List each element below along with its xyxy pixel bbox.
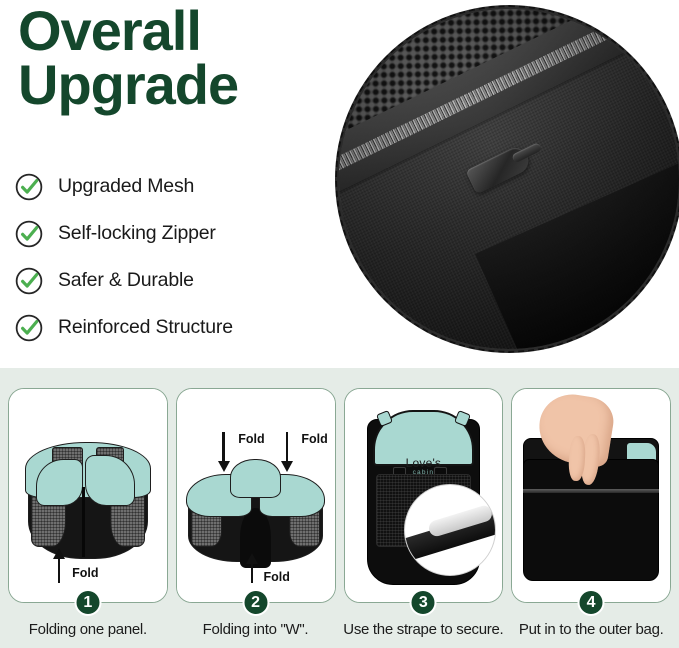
- step-badge-1: 1: [74, 589, 101, 616]
- page-title: Overall Upgrade: [18, 4, 348, 112]
- upgrade-hero-section: Overall Upgrade Upgraded Mesh Self-locki…: [0, 0, 679, 368]
- fold-label: Fold: [301, 432, 327, 446]
- fold-arrow-head-down-right: [281, 461, 293, 472]
- fold-arrow-shaft-up: [58, 555, 61, 583]
- outer-bag-zipper: [523, 489, 659, 493]
- check-circle-icon: [14, 172, 44, 202]
- step-caption-3: Use the strape to secure.: [343, 621, 503, 638]
- fold-label: Fold: [264, 570, 290, 584]
- feature-label: Upgraded Mesh: [58, 175, 194, 198]
- feature-item-self-locking-zipper: Self-locking Zipper: [14, 210, 334, 257]
- step-1-photo: Fold: [9, 389, 167, 602]
- step-badge-2: 2: [242, 589, 269, 616]
- photo-inner: [339, 9, 679, 349]
- pen-peak-center: [230, 459, 280, 497]
- fold-arrow-head-up: [53, 548, 65, 559]
- feature-label: Safer & Durable: [58, 269, 194, 292]
- step-caption-2: Folding into "W".: [176, 621, 336, 638]
- fold-arrow-shaft-down-left: [222, 432, 225, 464]
- feature-list: Upgraded Mesh Self-locking Zipper Safer …: [14, 163, 334, 351]
- title-line-1: Overall: [18, 4, 348, 58]
- step-4-photo: 5: [512, 389, 670, 602]
- check-circle-icon: [14, 219, 44, 249]
- step-card-2: Fold Fold Fold 2: [176, 388, 336, 603]
- step-caption-1: Folding one panel.: [8, 621, 168, 638]
- fold-arrow-shaft-down-right: [286, 432, 289, 464]
- pen-center-seam: [82, 487, 85, 557]
- feature-item-safer-durable: Safer & Durable: [14, 257, 334, 304]
- zipper-closeup-photo: [335, 5, 679, 353]
- strap-detail-zoom-photo: [404, 484, 496, 576]
- feature-label: Reinforced Structure: [58, 316, 233, 339]
- step-captions-row: Folding one panel. Folding into "W". Use…: [8, 621, 671, 638]
- step-2-photo: Fold Fold Fold: [177, 389, 335, 602]
- feature-item-upgraded-mesh: Upgraded Mesh: [14, 163, 334, 210]
- check-circle-icon: [14, 266, 44, 296]
- step-card-1: Fold 1: [8, 388, 168, 603]
- step-caption-4: Put in to the outer bag.: [511, 621, 671, 638]
- feature-item-reinforced-structure: Reinforced Structure: [14, 304, 334, 351]
- feature-label: Self-locking Zipper: [58, 222, 216, 245]
- step-card-3: Love's cabin 3: [344, 388, 504, 603]
- fold-label: Fold: [72, 566, 98, 580]
- fold-label: Fold: [238, 432, 264, 446]
- title-line-2: Upgrade: [18, 58, 348, 112]
- photo-vignette: [339, 9, 679, 349]
- fold-arrow-head-down-left: [218, 461, 230, 472]
- step-badge-4: 4: [578, 589, 605, 616]
- step-3-photo: Love's cabin: [345, 389, 503, 602]
- steps-cards-row: Fold 1 Fold Fold: [8, 388, 671, 603]
- pen-folded-panel-left: [36, 459, 83, 506]
- check-circle-icon: [14, 313, 44, 343]
- folding-steps-section: Fold 1 Fold Fold: [0, 368, 679, 648]
- step-badge-3: 3: [410, 589, 437, 616]
- fold-arrow-head-up: [246, 553, 258, 564]
- step-card-4: 5 4: [511, 388, 671, 603]
